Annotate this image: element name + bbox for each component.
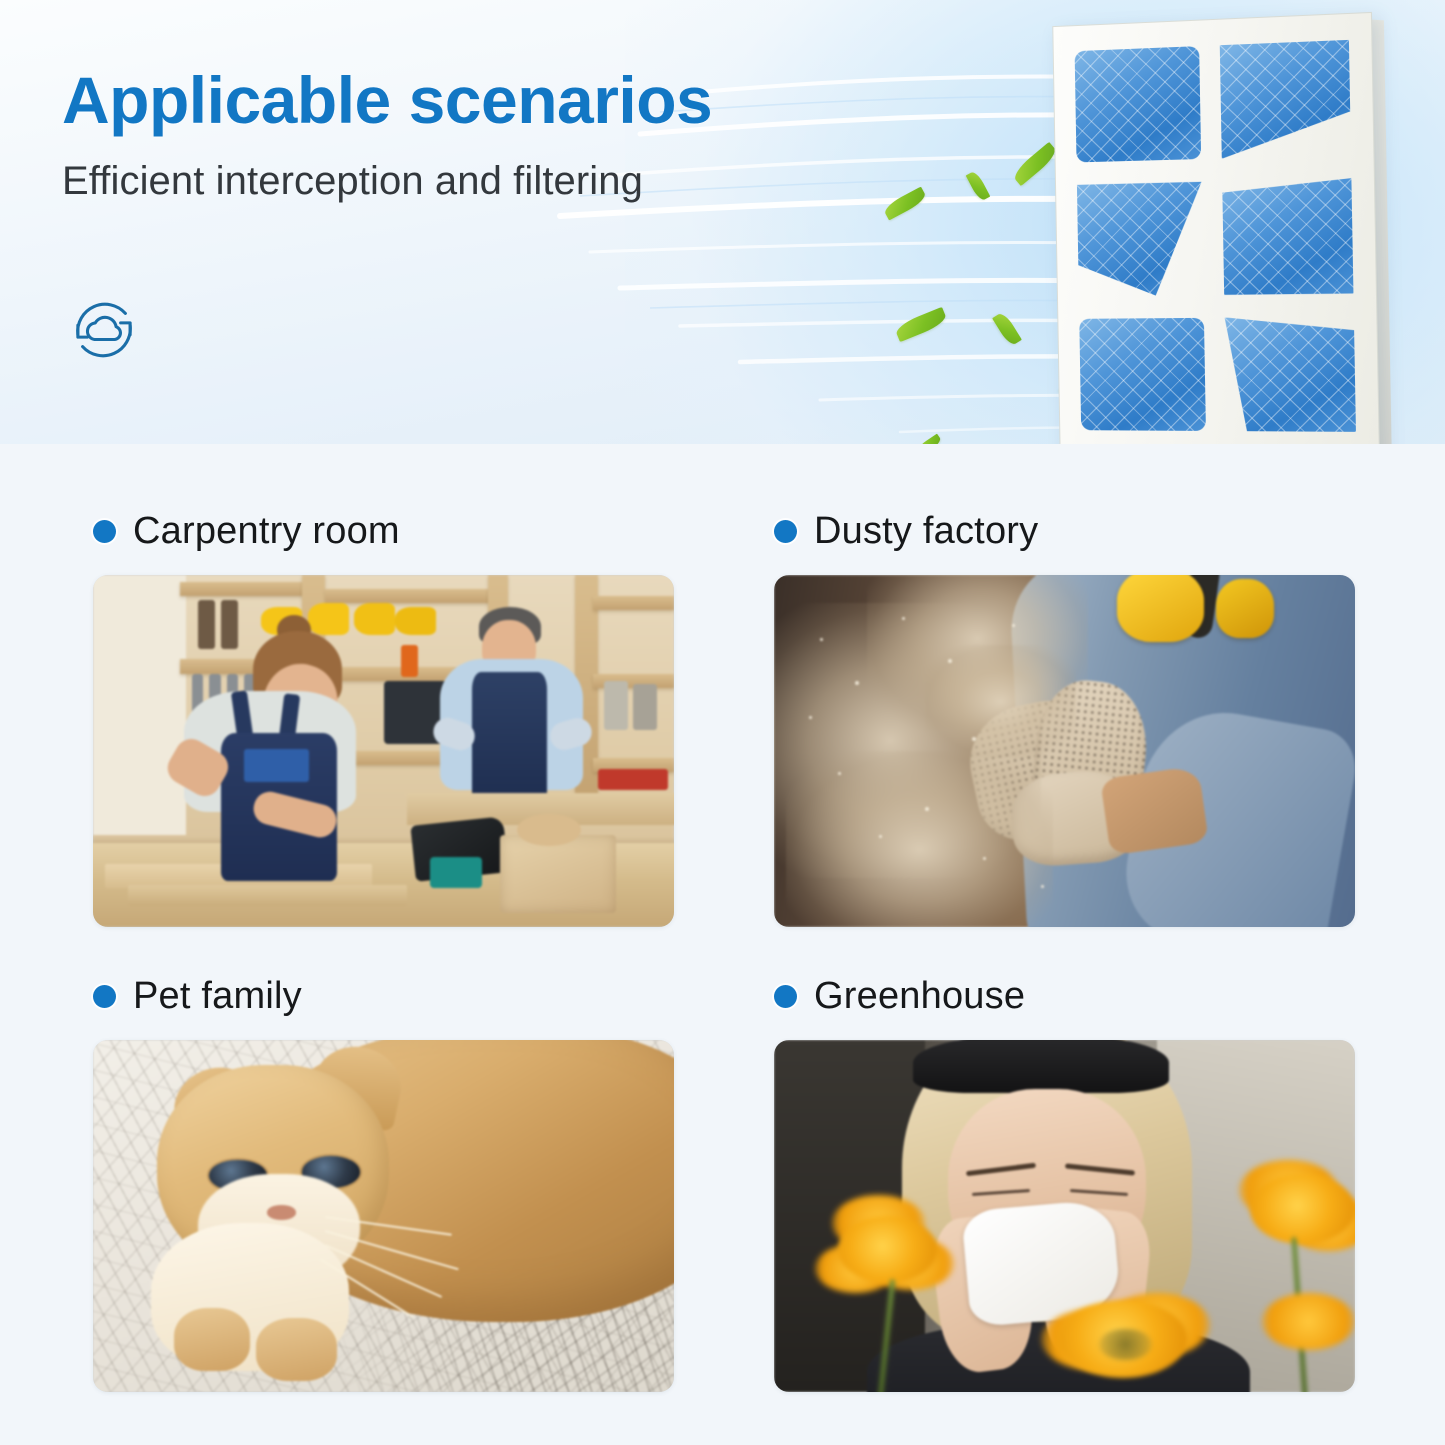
bullet-dot-icon <box>774 520 797 543</box>
filter-cell <box>1222 178 1353 295</box>
scenario-photo-dusty-factory <box>774 575 1355 927</box>
air-circulation-cloud-icon <box>66 292 142 368</box>
bullet-dot-icon <box>774 985 797 1008</box>
filter-frame <box>1052 12 1380 444</box>
header-banner: Applicable scenarios Efficient intercept… <box>0 0 1445 444</box>
leaf-icon <box>992 311 1022 347</box>
scenario-label: Carpentry room <box>133 510 400 553</box>
scenario-label-row: Dusty factory <box>774 510 1355 553</box>
scenario-photo-carpentry-room <box>93 575 674 927</box>
air-filter-product-image <box>1052 12 1380 444</box>
page-subtitle: Efficient interception and filtering <box>62 159 712 204</box>
scenario-label-row: Pet family <box>93 975 674 1018</box>
page-title: Applicable scenarios <box>62 66 712 135</box>
filter-cell <box>1079 318 1206 431</box>
scenario-card-dusty-factory[interactable]: Dusty factory <box>774 510 1355 927</box>
filter-cell <box>1075 46 1202 163</box>
scenario-label-row: Carpentry room <box>93 510 674 553</box>
bullet-dot-icon <box>93 985 116 1008</box>
leaf-icon <box>882 187 928 221</box>
filter-cell <box>1077 182 1204 297</box>
leaf-icon <box>1011 142 1060 186</box>
scenario-photo-pet-family <box>93 1040 674 1392</box>
leaf-icon <box>966 170 991 202</box>
scenario-label: Greenhouse <box>814 975 1025 1018</box>
bullet-dot-icon <box>93 520 116 543</box>
scenarios-section: Carpentry room <box>0 444 1445 1445</box>
scenario-label: Dusty factory <box>814 510 1038 553</box>
banner-text-block: Applicable scenarios Efficient intercept… <box>62 66 712 204</box>
scenario-card-greenhouse[interactable]: Greenhouse <box>774 975 1355 1392</box>
scenario-photo-greenhouse <box>774 1040 1355 1392</box>
scenario-card-carpentry-room[interactable]: Carpentry room <box>93 510 674 927</box>
filter-cell <box>1220 40 1351 159</box>
leaf-icon <box>915 434 942 444</box>
scenario-card-pet-family[interactable]: Pet family <box>93 975 674 1392</box>
scenario-label-row: Greenhouse <box>774 975 1355 1018</box>
scenario-grid: Carpentry room <box>93 510 1355 1392</box>
leaf-icon <box>894 307 949 342</box>
scenario-label: Pet family <box>133 975 302 1018</box>
filter-cell <box>1225 316 1356 432</box>
